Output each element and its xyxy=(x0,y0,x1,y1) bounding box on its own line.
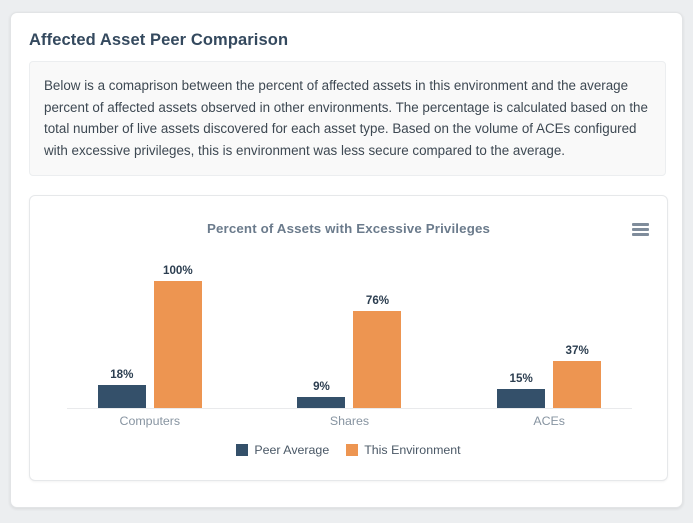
bar-value-label: 76% xyxy=(366,294,389,307)
legend-swatch-icon xyxy=(236,444,248,456)
bar[interactable] xyxy=(154,281,202,408)
page-title: Affected Asset Peer Comparison xyxy=(29,31,288,50)
legend-swatch-icon xyxy=(346,444,358,456)
bar[interactable] xyxy=(297,397,345,408)
bar-group: 9%76% xyxy=(250,251,450,408)
bar-column[interactable]: 15% xyxy=(497,251,545,408)
category-label: ACEs xyxy=(449,414,649,428)
category-label: Computers xyxy=(50,414,250,428)
bar-column[interactable]: 18% xyxy=(98,251,146,408)
chart-plot-area: 18%100%9%76%15%37% xyxy=(50,252,649,409)
legend-item[interactable]: This Environment xyxy=(346,443,460,457)
description-text: Below is a comaprison between the percen… xyxy=(44,75,651,161)
category-label: Shares xyxy=(250,414,450,428)
bar-value-label: 18% xyxy=(110,368,133,381)
chart-category-labels: ComputersSharesACEs xyxy=(50,414,649,432)
legend-item[interactable]: Peer Average xyxy=(236,443,329,457)
bar[interactable] xyxy=(497,389,545,408)
chart-legend: Peer AverageThis Environment xyxy=(30,443,667,457)
legend-label: Peer Average xyxy=(254,443,329,457)
chart-title: Percent of Assets with Excessive Privile… xyxy=(30,221,667,236)
bar-value-label: 37% xyxy=(566,344,589,357)
bar-group: 15%37% xyxy=(449,251,649,408)
description-panel: Below is a comaprison between the percen… xyxy=(29,61,666,176)
affected-asset-peer-comparison-card: Affected Asset Peer Comparison Below is … xyxy=(10,12,683,508)
bar[interactable] xyxy=(98,385,146,408)
bar[interactable] xyxy=(553,361,601,408)
bar-column[interactable]: 37% xyxy=(553,251,601,408)
bar-value-label: 9% xyxy=(313,380,330,393)
hamburger-menu-icon[interactable] xyxy=(632,223,649,236)
bar-column[interactable]: 9% xyxy=(297,251,345,408)
bar-value-label: 100% xyxy=(163,264,193,277)
legend-label: This Environment xyxy=(364,443,460,457)
bar-column[interactable]: 76% xyxy=(353,251,401,408)
bar-value-label: 15% xyxy=(510,372,533,385)
bar-column[interactable]: 100% xyxy=(154,251,202,408)
bar-group: 18%100% xyxy=(50,251,250,408)
bar[interactable] xyxy=(353,311,401,408)
chart-card: Percent of Assets with Excessive Privile… xyxy=(29,195,668,481)
